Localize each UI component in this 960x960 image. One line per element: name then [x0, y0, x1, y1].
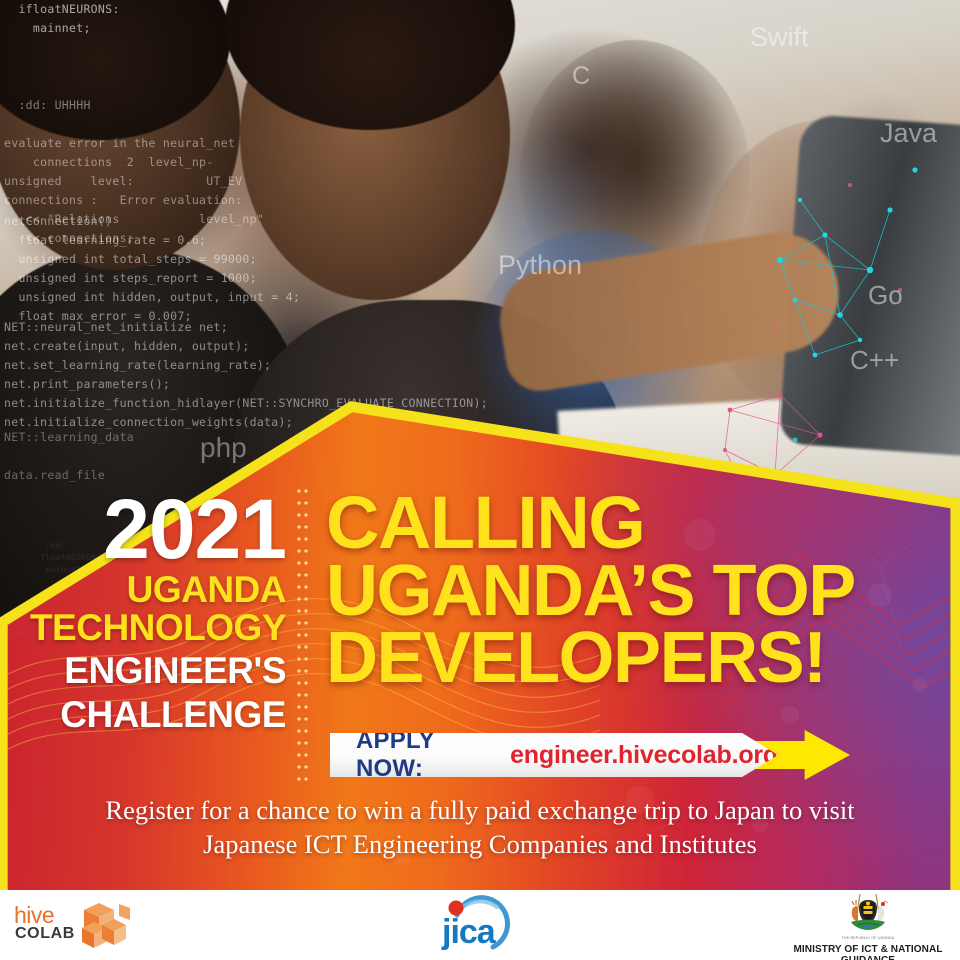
- event-title-line1: UGANDA: [0, 571, 286, 609]
- headline-block: CALLING UGANDA’S TOP DEVELOPERS!: [326, 489, 926, 692]
- poster-root: ifloatNEURONS: mainnet; :dd: UHHHH evalu…: [0, 0, 960, 960]
- jica-logo[interactable]: jica: [435, 895, 545, 953]
- event-title-line2: TECHNOLOGY: [0, 609, 286, 647]
- promo-banner: net.create(input, hidden, output); net.s…: [0, 385, 960, 890]
- headline-line3: DEVELOPERS!: [326, 625, 926, 692]
- apply-now-bar[interactable]: APPLY NOW: engineer.hivecolab.org: [330, 733, 778, 777]
- subtext-block: Register for a chance to win a fully pai…: [0, 793, 960, 862]
- event-title-line3: ENGINEER'S: [0, 652, 286, 691]
- headline-line2: UGANDA’S TOP: [326, 558, 926, 625]
- crest-caption: THE REPUBLIC OF UGANDA: [778, 936, 958, 940]
- uganda-coat-of-arms-icon: [845, 892, 891, 936]
- colab-wordmark: COLAB: [15, 925, 75, 943]
- jica-wordmark: jica: [442, 913, 495, 952]
- headline-line1: CALLING: [326, 489, 926, 558]
- ministry-logo[interactable]: THE REPUBLIC OF UGANDA MINISTRY OF ICT &…: [778, 892, 958, 958]
- subtext-line1: Register for a chance to win a fully pai…: [0, 793, 960, 827]
- event-title-block: 2021 UGANDA TECHNOLOGY ENGINEER'S CHALLE…: [0, 493, 300, 735]
- apply-now-cta[interactable]: APPLY NOW: engineer.hivecolab.org: [330, 733, 870, 777]
- event-title-line4: CHALLENGE: [0, 696, 286, 735]
- footer-logos: hive COLAB jica: [0, 890, 960, 960]
- subtext-line2: Japanese ICT Engineering Companies and I…: [0, 827, 960, 861]
- apply-now-url[interactable]: engineer.hivecolab.org: [510, 741, 778, 770]
- hive-colab-logo[interactable]: hive COLAB: [10, 898, 135, 950]
- ministry-name: MINISTRY OF ICT & NATIONAL GUIDANCE: [778, 944, 958, 960]
- hive-cube-icon: [72, 898, 134, 950]
- apply-now-label: APPLY NOW:: [356, 727, 496, 783]
- event-year: 2021: [0, 493, 286, 565]
